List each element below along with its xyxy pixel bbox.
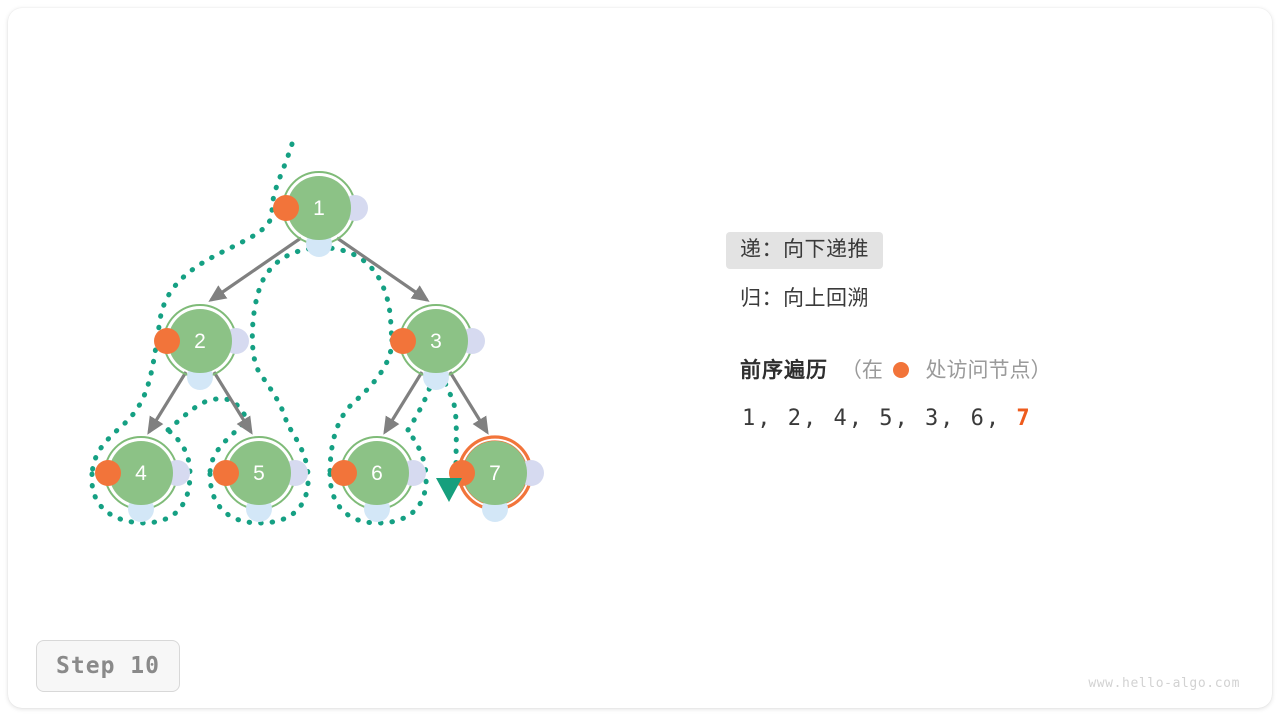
step-badge: Step 10 <box>36 640 180 692</box>
node-value-label: 5 <box>253 462 265 485</box>
preorder-sequence-done: 1, 2, 4, 5, 3, 6, <box>742 406 1001 431</box>
node-visit-dot <box>273 195 299 221</box>
watermark-text: www.hello-algo.com <box>1088 676 1240 691</box>
preorder-sequence: 1, 2, 4, 5, 3, 6, 7 <box>726 408 1146 430</box>
edge-n3-n6 <box>385 372 422 432</box>
backtrack-text: 归：向上回溯 <box>740 287 869 310</box>
node-value-label: 1 <box>313 197 325 220</box>
tree-node-2[interactable]: 2 <box>154 305 249 390</box>
preorder-sequence-current: 7 <box>1016 406 1031 431</box>
tree-node-3[interactable]: 3 <box>390 305 485 390</box>
current-node-pointer <box>436 478 462 502</box>
node-visit-dot <box>154 328 180 354</box>
preorder-paren-open: （在 <box>841 359 883 382</box>
edge-n2-n4 <box>149 372 186 432</box>
recurse-line: 递：向下递推 <box>726 232 883 269</box>
node-value-label: 2 <box>194 330 206 353</box>
tree-node-6[interactable]: 6 <box>331 437 426 522</box>
legend-panel: 递：向下递推 归：向上回溯 前序遍历 （在 处访问节点） 1, 2, 4, 5,… <box>726 232 1146 430</box>
recurse-text: 递：向下递推 <box>740 238 869 261</box>
tree-node-4[interactable]: 4 <box>95 437 190 522</box>
visit-dot-icon <box>893 362 909 378</box>
path-root-to-n4-down <box>92 144 292 474</box>
node-visit-dot <box>390 328 416 354</box>
node-value-label: 4 <box>135 462 147 485</box>
preorder-title: 前序遍历 （在 处访问节点） <box>726 360 1146 381</box>
screenshot-root: 1234567 递：向下递推 归：向上回溯 前序遍历 （在 处访问节点） 1, … <box>0 0 1280 720</box>
node-value-label: 7 <box>489 462 501 485</box>
tree-node-5[interactable]: 5 <box>213 437 308 522</box>
tree-node-7[interactable]: 7 <box>449 437 544 522</box>
step-label: Step 10 <box>56 653 160 679</box>
edge-n3-n7 <box>450 372 487 432</box>
edge-n1-n3 <box>337 238 427 300</box>
node-visit-dot <box>95 460 121 486</box>
node-value-label: 3 <box>430 330 442 353</box>
node-visit-dot <box>331 460 357 486</box>
backtrack-line: 归：向上回溯 <box>726 288 1146 309</box>
preorder-title-label: 前序遍历 <box>740 359 828 382</box>
watermark: www.hello-algo.com <box>1088 676 1240 691</box>
edge-n1-n2 <box>211 238 301 300</box>
path-n5-to-n3 <box>252 248 392 420</box>
edge-n2-n5 <box>214 372 251 432</box>
preorder-paren-close: 处访问节点） <box>926 359 1052 382</box>
node-visit-dot <box>213 460 239 486</box>
tree-node-1[interactable]: 1 <box>273 172 368 257</box>
tree-nodes: 1234567 <box>95 172 544 522</box>
node-value-label: 6 <box>371 462 383 485</box>
